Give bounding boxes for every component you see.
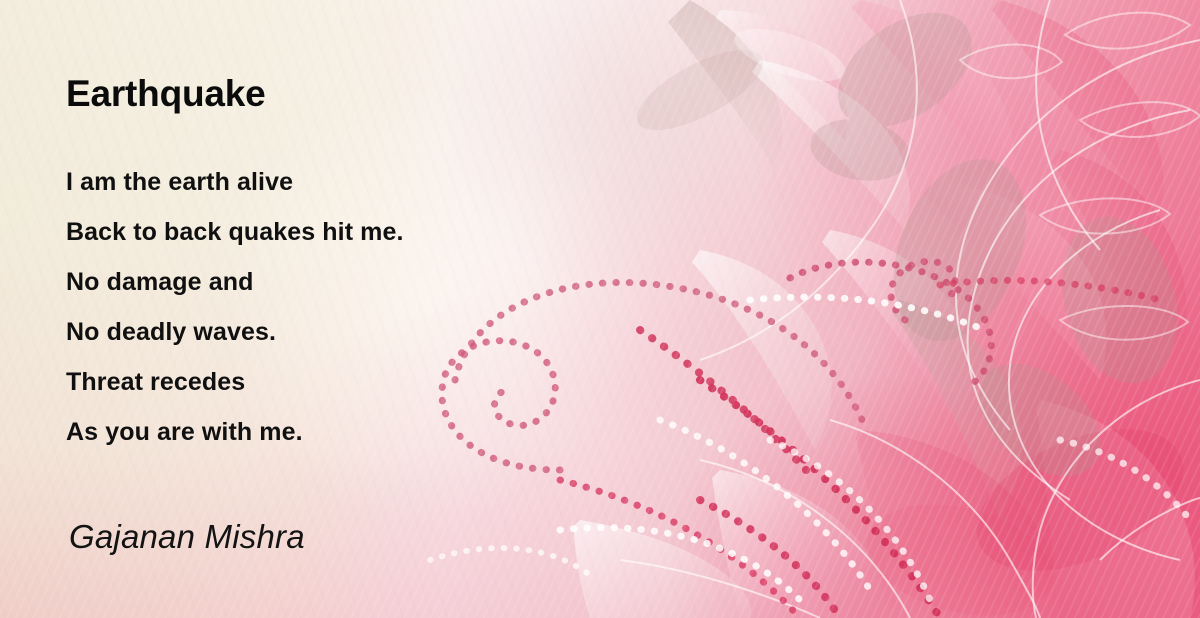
poem-line: As you are with me. — [66, 407, 686, 457]
poem-title: Earthquake — [66, 74, 266, 115]
poem-line: No deadly waves. — [66, 307, 686, 357]
poem-image-card: Earthquake I am the earth alive Back to … — [0, 0, 1200, 618]
poem-line: Threat recedes — [66, 357, 686, 407]
poem-line: I am the earth alive — [66, 157, 686, 207]
poem-stanza: I am the earth alive Back to back quakes… — [66, 157, 686, 457]
poem-author-name: Gajanan Mishra — [69, 518, 305, 556]
poem-line: No damage and — [66, 257, 686, 307]
poem-content: Earthquake I am the earth alive Back to … — [0, 0, 1200, 618]
poem-line: Back to back quakes hit me. — [66, 207, 686, 257]
